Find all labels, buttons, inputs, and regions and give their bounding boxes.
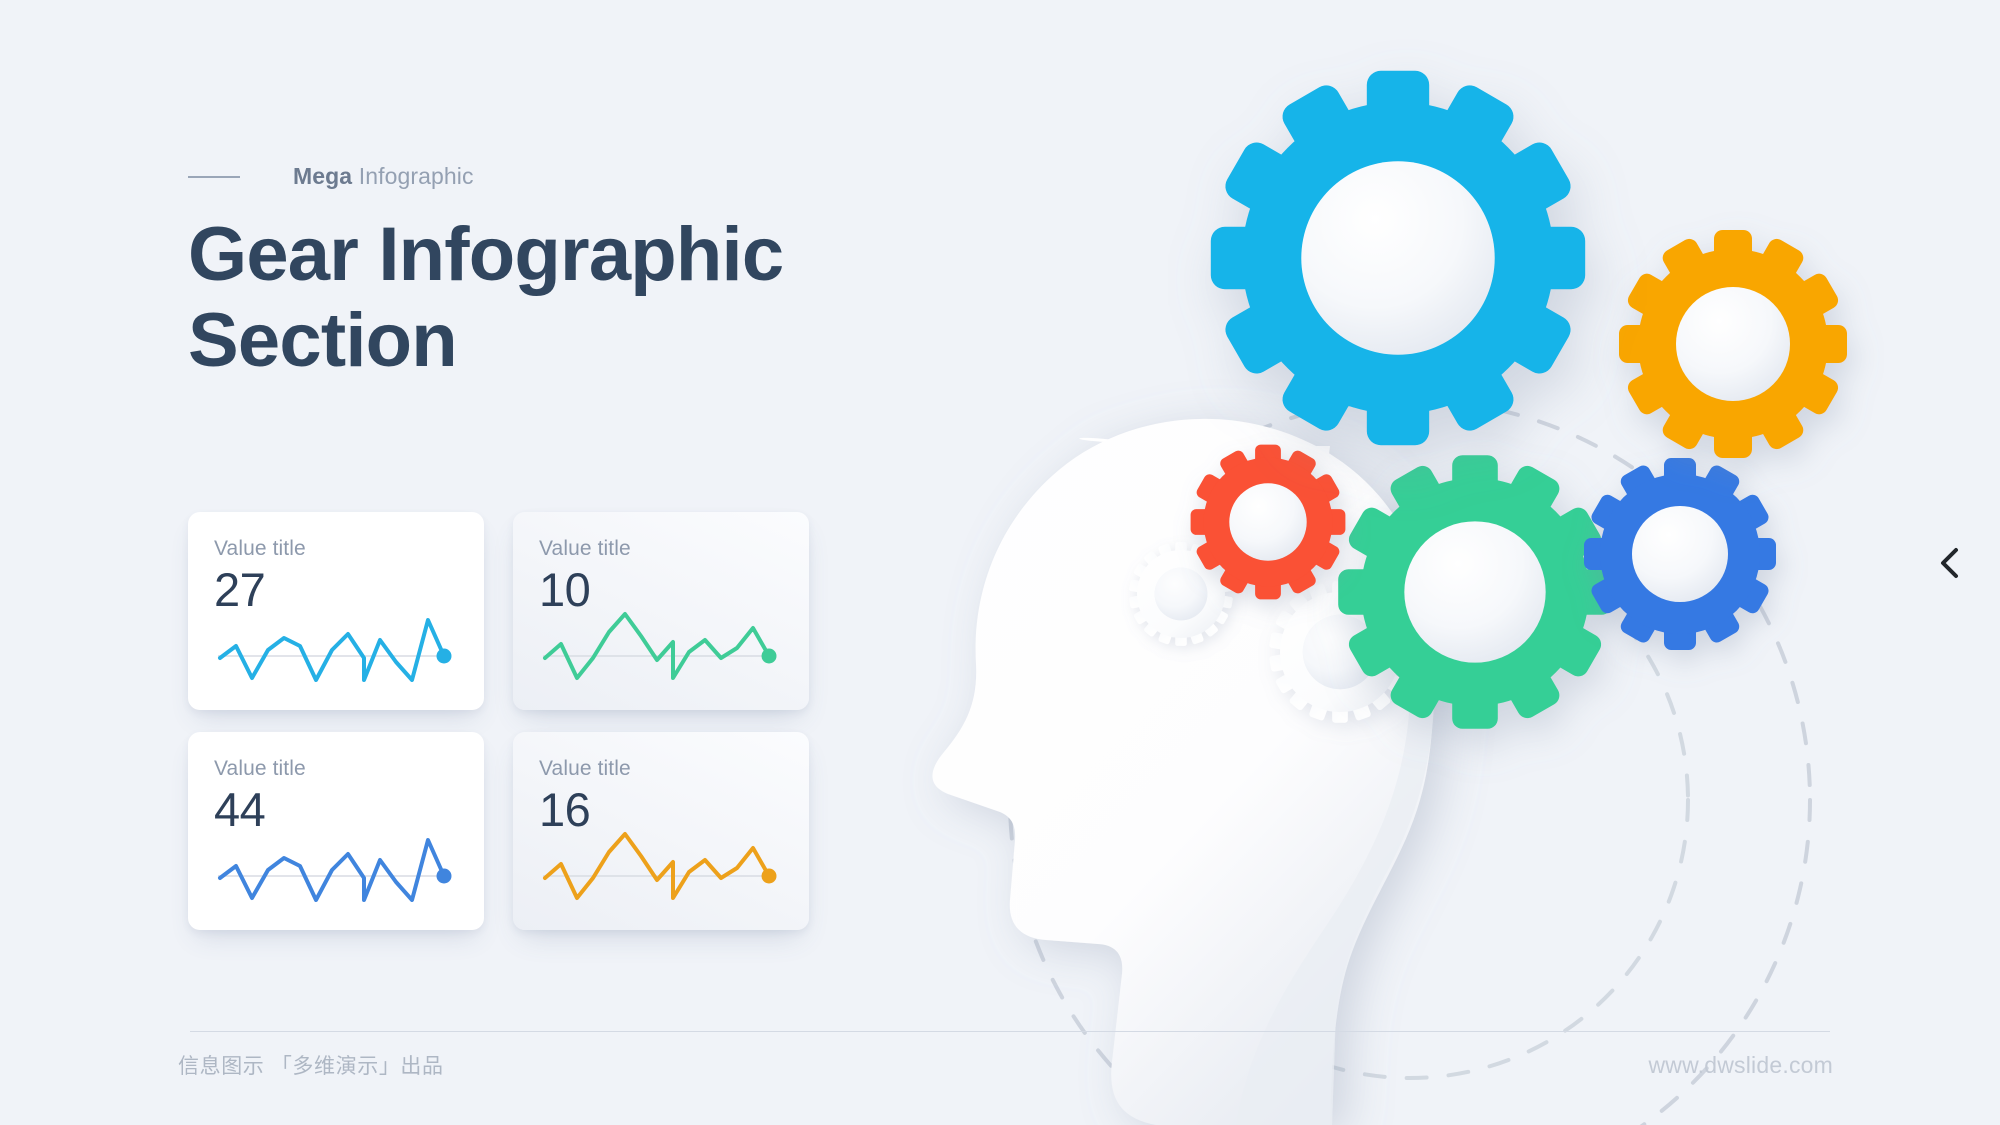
prev-slide-button[interactable] [1927,540,1973,586]
eyebrow-strong: Mega [293,163,352,189]
orange-gear [1619,230,1847,458]
stat-card-title: Value title [539,757,783,781]
eyebrow-dash [188,176,240,178]
sparkline-chart [214,600,458,682]
stat-card-grid: Value title 27 Value title 10 Value titl… [188,512,809,930]
chevron-left-icon [1937,546,1963,580]
headline-line-1: Gear Infographic [188,212,783,297]
eyebrow-normal: Infographic [359,163,474,189]
sparkline-chart [214,820,458,902]
eyebrow: Mega Infographic [188,163,474,190]
headline-line-2: Section [188,298,457,383]
stat-card[interactable]: Value title 10 [513,512,809,710]
white-gear-large [1269,581,1411,723]
footer-credit: 信息图示 「多维演示」出品 [178,1050,444,1080]
white-gear-small [1129,542,1233,646]
green-gear [1338,455,1612,729]
sparkline-chart [539,600,783,682]
cyan-gear [1211,71,1585,445]
slide-canvas: Mega Infographic Gear Infographic Sectio… [0,0,2000,1125]
footer-divider [190,1031,1830,1032]
dashed-circles [1010,400,1810,1125]
head-silhouette [932,419,1436,1125]
footer-website: www.dwslide.com [1649,1052,1834,1079]
stat-card-title: Value title [214,757,458,781]
stat-card[interactable]: Value title 44 [188,732,484,930]
page-title: Gear Infographic Section [188,212,888,384]
eyebrow-label: Mega Infographic [293,163,474,190]
blue-gear [1584,458,1776,650]
red-gear [1191,445,1346,600]
sparkline-chart [539,820,783,902]
stat-card[interactable]: Value title 16 [513,732,809,930]
stat-card-title: Value title [539,537,783,561]
stat-card[interactable]: Value title 27 [188,512,484,710]
stat-card-title: Value title [214,537,458,561]
